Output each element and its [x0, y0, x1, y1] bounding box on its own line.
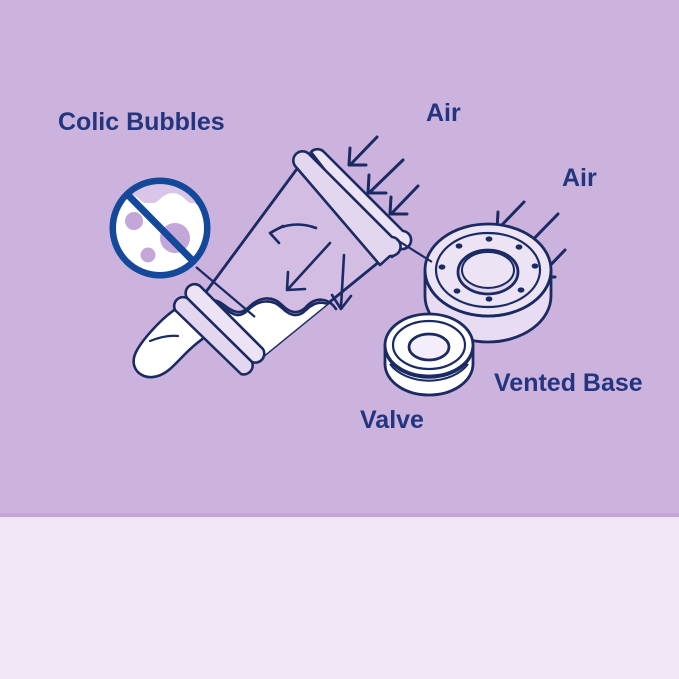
- valve-ring-icon: [385, 314, 473, 395]
- no-bubbles-icon: [113, 181, 207, 275]
- arrow-down-left-icon: [390, 186, 418, 214]
- illustration-panel: Colic Bubbles Air Air Vented Base Valve: [0, 0, 679, 516]
- product-feature-graphic: Colic Bubbles Air Air Vented Base Valve …: [0, 0, 679, 679]
- label-colic-bubbles: Colic Bubbles: [58, 108, 225, 137]
- label-valve: Valve: [360, 406, 424, 435]
- caption-panel: Reduces Colic and Gas Patented Anti-Coli…: [0, 517, 679, 679]
- anti-colic-diagram: [0, 0, 679, 516]
- label-vented-base: Vented Base: [494, 369, 643, 398]
- label-air-right: Air: [562, 164, 597, 193]
- arrow-down-left-icon: [368, 160, 403, 193]
- leader-line-base: [397, 240, 432, 262]
- arrow-down-left-icon: [349, 137, 377, 165]
- label-air-top: Air: [426, 99, 461, 128]
